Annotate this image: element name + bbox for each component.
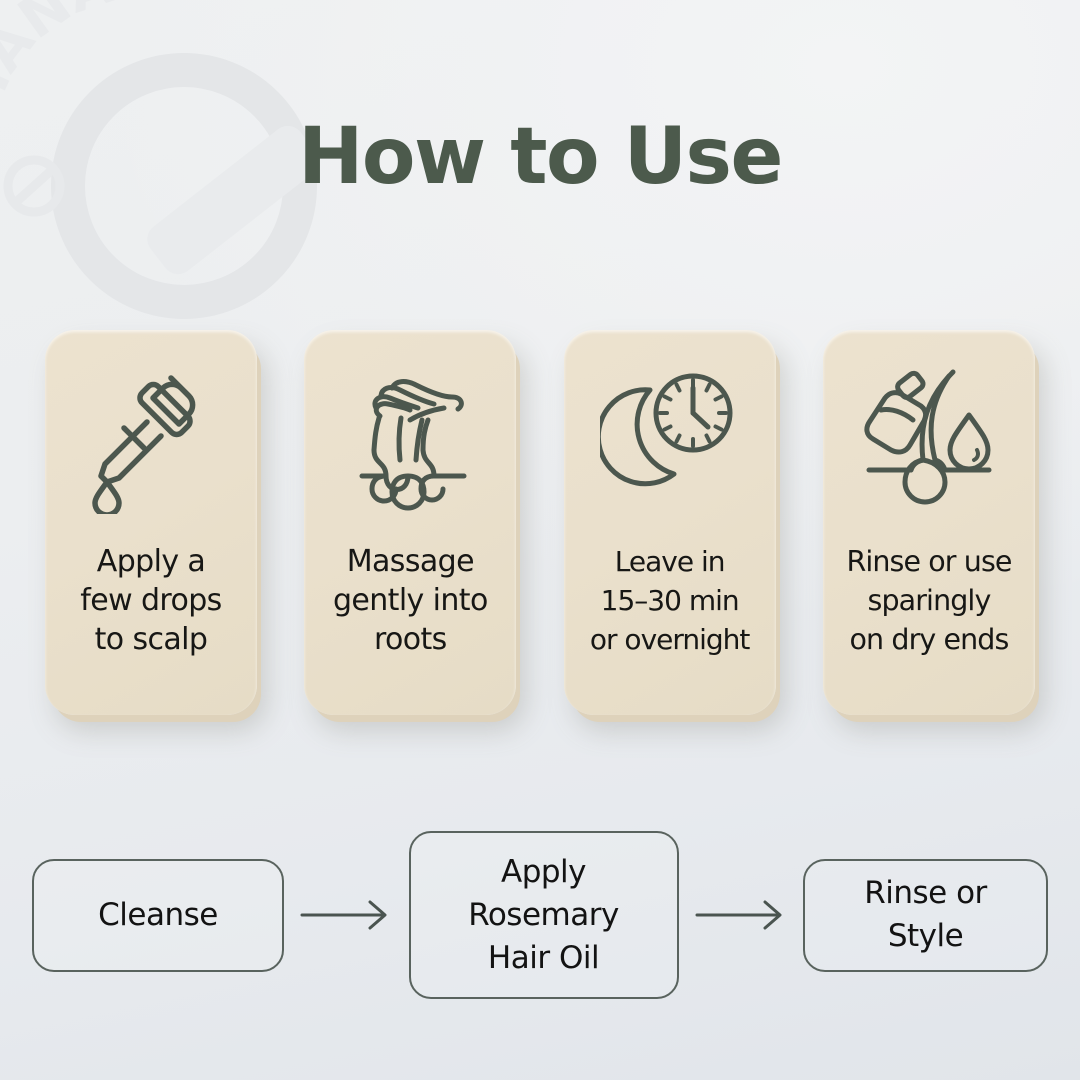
dropper-icon [81, 364, 221, 514]
step-card-label: Leave in 15–30 min or overnight [570, 542, 770, 659]
flow-step-rinse-style[interactable]: Rinse or Style [803, 859, 1048, 972]
flow-step-apply-oil[interactable]: Apply Rosemary Hair Oil [409, 831, 679, 999]
moon-clock-icon [600, 364, 740, 514]
hand-massage-follicles-icon [340, 364, 480, 514]
flow-step-cleanse[interactable]: Cleanse [32, 859, 284, 972]
process-flow: Cleanse Apply Rosemary Hair Oil Rinse or… [32, 820, 1048, 1010]
steps-row: Apply a few drops to scalp [45, 330, 1035, 715]
bottle-follicle-droplet-icon [859, 364, 999, 514]
step-card-massage: Massage gently into roots [304, 330, 516, 715]
page-title: How to Use [0, 118, 1080, 196]
infographic-canvas: OMIANA OMIANA How to Use [0, 0, 1080, 1080]
arrow-right-icon [298, 900, 394, 930]
step-card-rinse: Rinse or use sparingly on dry ends [823, 330, 1035, 715]
step-card-label: Apply a few drops to scalp [51, 542, 251, 659]
step-card-leave-in: Leave in 15–30 min or overnight [564, 330, 776, 715]
step-card-label: Rinse or use sparingly on dry ends [829, 542, 1029, 659]
arrow-right-icon [693, 900, 789, 930]
step-card-label: Massage gently into roots [310, 542, 510, 659]
step-card-apply: Apply a few drops to scalp [45, 330, 257, 715]
